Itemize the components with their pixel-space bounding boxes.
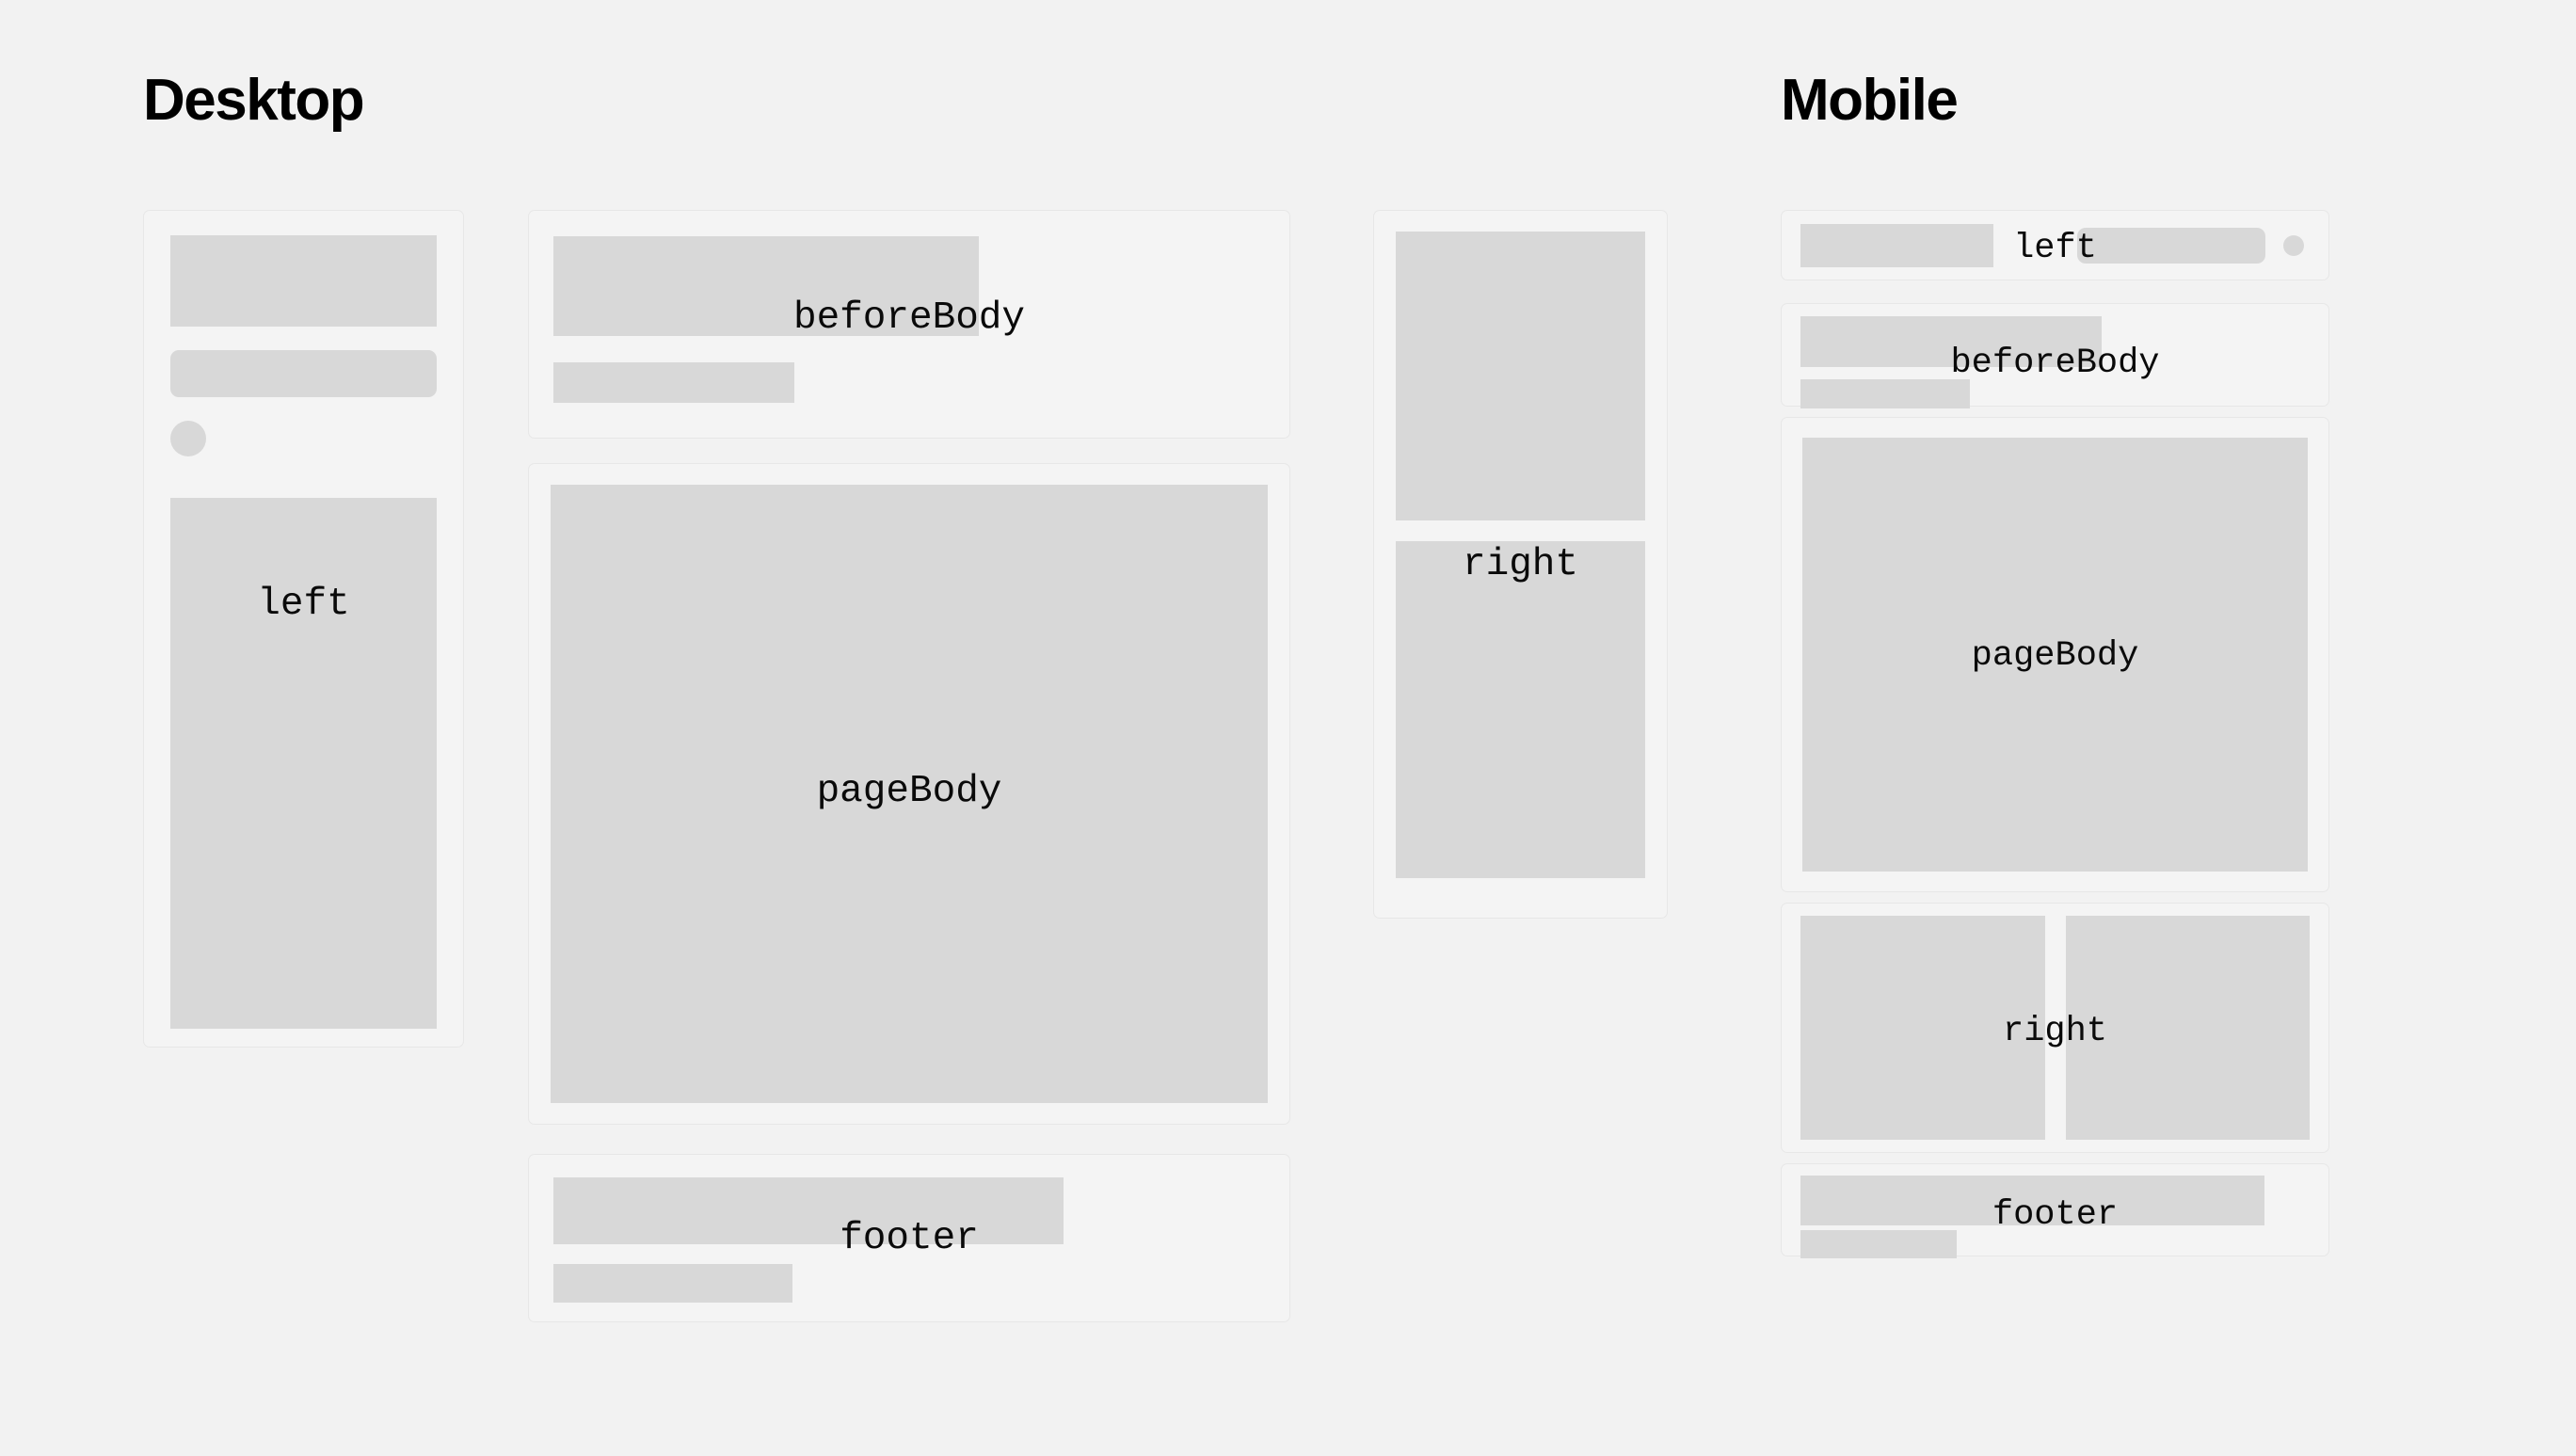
desktop-region-footer[interactable]: footer xyxy=(528,1154,1290,1322)
placeholder-block-primary xyxy=(1800,316,2102,367)
mobile-region-right[interactable]: right xyxy=(1781,903,2329,1153)
mobile-region-left[interactable]: left xyxy=(1781,210,2329,280)
placeholder-block-content xyxy=(1802,438,2308,872)
placeholder-block-primary xyxy=(553,236,979,336)
placeholder-block-primary xyxy=(553,1177,1064,1244)
placeholder-block-pill xyxy=(170,350,437,397)
placeholder-block-secondary xyxy=(553,362,794,403)
placeholder-block-right-half xyxy=(2066,916,2311,1140)
desktop-heading: Desktop xyxy=(143,72,363,130)
placeholder-block-pill xyxy=(2077,228,2265,264)
placeholder-block-secondary xyxy=(553,1264,792,1303)
mobile-stack: left beforeBody pageBody right footer xyxy=(1781,210,2329,1256)
placeholder-block-primary xyxy=(1800,1176,2264,1225)
mobile-heading: Mobile xyxy=(1781,72,1957,130)
placeholder-block-header xyxy=(170,235,437,327)
placeholder-block-header xyxy=(1800,224,1993,267)
mobile-layout-group: Mobile left beforeBody pageBody right fo… xyxy=(1781,62,2336,1380)
placeholder-block-upper xyxy=(1396,232,1645,520)
mobile-region-beforebody[interactable]: beforeBody xyxy=(1781,303,2329,407)
mobile-region-pagebody[interactable]: pageBody xyxy=(1781,417,2329,892)
placeholder-block-lower xyxy=(1396,541,1645,878)
desktop-layout-group: Desktop left beforeBody pageBody xyxy=(143,62,1668,1342)
mobile-region-footer[interactable]: footer xyxy=(1781,1163,2329,1256)
placeholder-block-secondary xyxy=(1800,379,1970,408)
placeholder-block-avatar xyxy=(170,421,206,456)
desktop-region-pagebody[interactable]: pageBody xyxy=(528,463,1290,1125)
placeholder-block-secondary xyxy=(1800,1230,1957,1258)
placeholder-block-left-half xyxy=(1800,916,2045,1140)
placeholder-block-avatar xyxy=(2283,235,2304,256)
desktop-center-column: beforeBody pageBody footer xyxy=(528,210,1290,1322)
placeholder-block-content xyxy=(551,485,1268,1103)
desktop-region-beforebody[interactable]: beforeBody xyxy=(528,210,1290,439)
placeholder-block-body xyxy=(170,498,437,1029)
desktop-columns: left beforeBody pageBody footer r xyxy=(143,210,1668,1339)
desktop-region-left[interactable]: left xyxy=(143,210,464,1048)
desktop-region-right[interactable]: right xyxy=(1373,210,1668,919)
